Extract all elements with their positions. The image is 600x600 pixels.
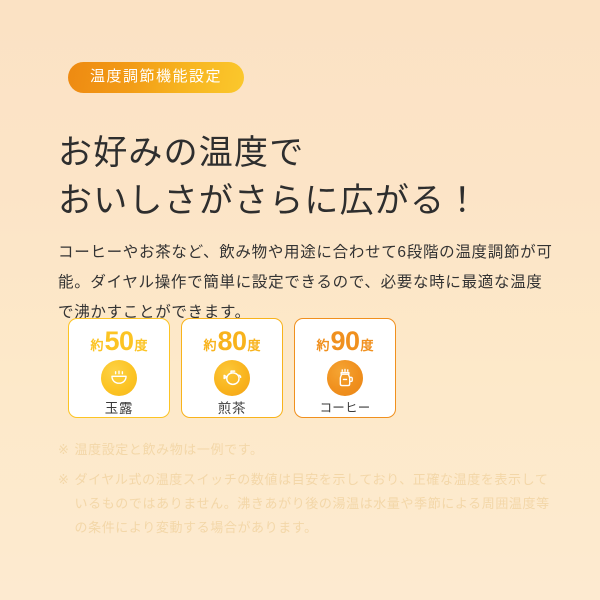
card-label: コーヒー: [320, 402, 371, 415]
temperature-unit: 度: [248, 339, 261, 352]
temperature-prefix: 約: [90, 339, 103, 352]
temperature-prefix: 約: [203, 339, 216, 352]
temperature-unit: 度: [135, 339, 148, 352]
page-title: お好みの温度で おいしさがさらに広がる！: [58, 129, 480, 226]
footnote-item: ※ 温度設定と飲み物は一例です。: [58, 438, 558, 462]
footnote-mark-icon: ※: [58, 438, 70, 462]
temperature-value-group: 約 50 度: [90, 328, 147, 355]
temperature-unit: 度: [361, 339, 374, 352]
footnote-text: 温度設定と飲み物は一例です。: [75, 438, 559, 462]
promo-page: 温度調節機能設定 お好みの温度で おいしさがさらに広がる！ コーヒーやお茶など、…: [0, 0, 600, 600]
temperature-prefix: 約: [316, 339, 329, 352]
badge-row: 温度調節機能設定: [68, 62, 244, 93]
temperature-value-group: 約 80 度: [203, 328, 260, 355]
card-label: 玉露: [105, 402, 134, 416]
card-label: 煎茶: [218, 402, 247, 416]
temperature-card-coffee: 約 90 度 コーヒー: [294, 318, 396, 418]
section-badge: 温度調節機能設定: [68, 62, 244, 93]
footnote-list: ※ 温度設定と飲み物は一例です。 ※ ダイヤル式の温度スイッチの数値は目安を示し…: [58, 438, 558, 546]
teapot-icon: [214, 360, 250, 396]
headline-line-1: お好みの温度で: [58, 129, 480, 177]
temperature-value-group: 約 90 度: [316, 328, 373, 355]
temperature-card-gyokuro: 約 50 度 玉露: [68, 318, 170, 418]
temperature-card-list: 約 50 度 玉露 約 80 度: [68, 318, 396, 418]
footnote-mark-icon: ※: [58, 468, 70, 540]
temperature-number: 50: [103, 328, 134, 355]
footnote-text: ダイヤル式の温度スイッチの数値は目安を示しており、正確な温度を表示しているもので…: [75, 468, 559, 540]
temperature-number: 90: [329, 328, 360, 355]
headline-line-2: おいしさがさらに広がる！: [58, 177, 480, 225]
coffee-server-icon: [327, 360, 363, 396]
teacup-icon: [101, 360, 137, 396]
temperature-number: 80: [216, 328, 247, 355]
body-paragraph: コーヒーやお茶など、飲み物や用途に合わせて6段階の温度調節が可能。ダイヤル操作で…: [58, 238, 558, 329]
footnote-item: ※ ダイヤル式の温度スイッチの数値は目安を示しており、正確な温度を表示しているも…: [58, 468, 558, 540]
temperature-card-sencha: 約 80 度 煎茶: [181, 318, 283, 418]
